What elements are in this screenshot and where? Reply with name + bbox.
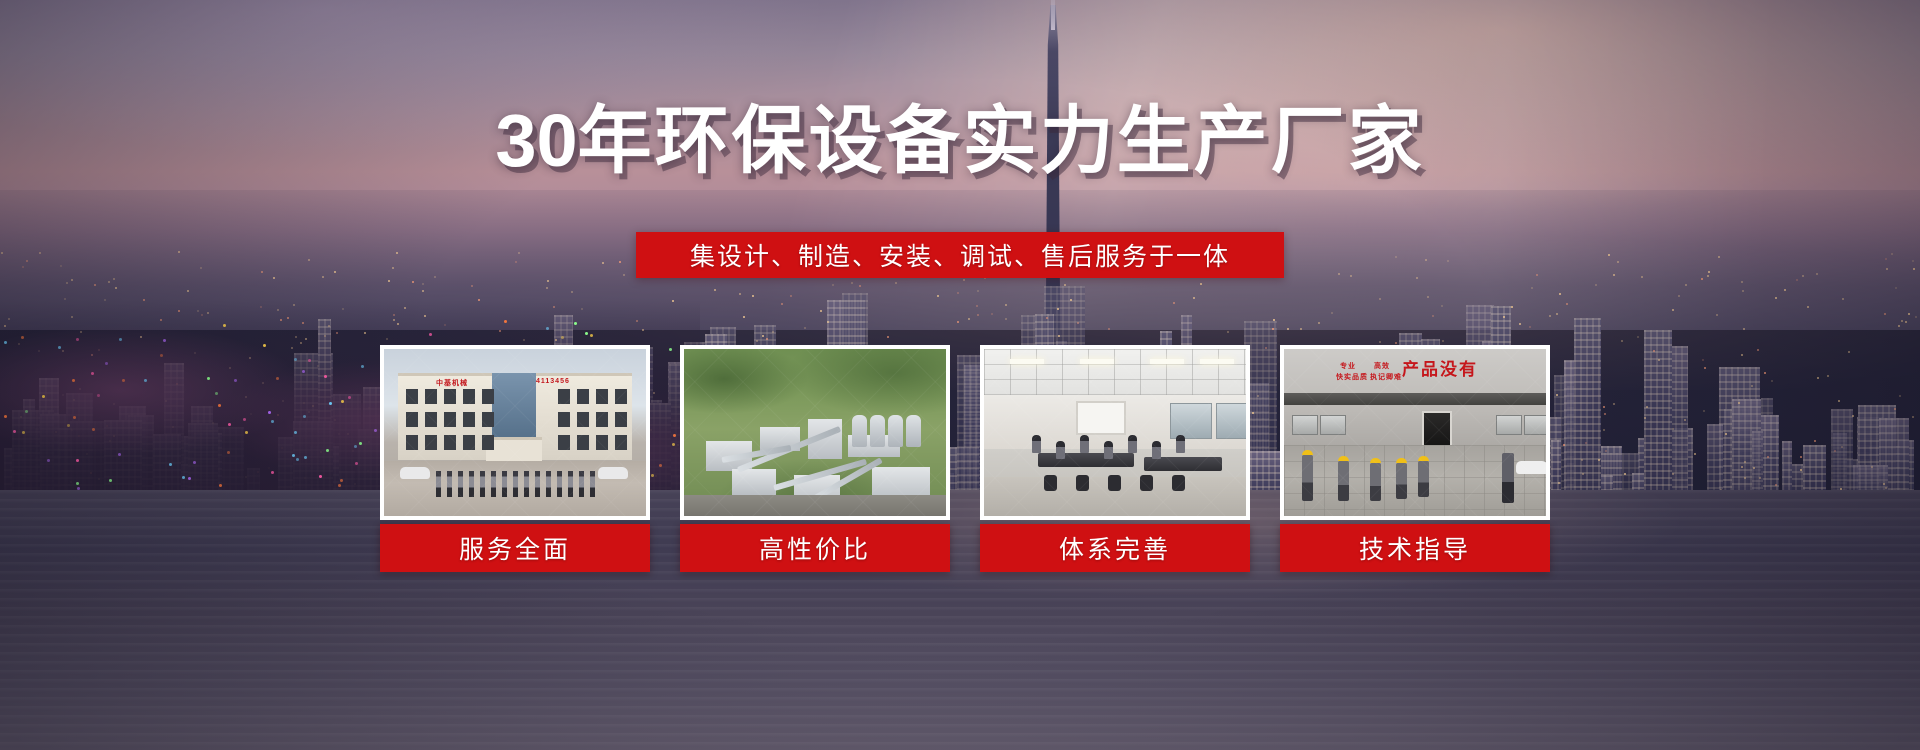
factory-sign-text: 产品没有 (1402, 355, 1478, 380)
supervisor (1502, 453, 1514, 503)
factory-window (1524, 415, 1550, 435)
office-worker (1152, 441, 1161, 459)
factory-worker (1418, 461, 1429, 497)
building-phone-text: 4113456 (536, 378, 570, 385)
factory-sign-small-3: 高效 (1374, 363, 1390, 371)
feature-card-caption: 高性价比 (680, 524, 950, 572)
feature-card-caption-text: 体系完善 (1059, 530, 1171, 566)
factory-worker (1396, 463, 1407, 499)
office-window (615, 435, 627, 450)
factory-window-strip (1284, 393, 1546, 405)
staff-member (579, 471, 584, 497)
staff-member (524, 471, 529, 497)
feature-card-list: 中基机械 4113456 服务全面 高性价比 (380, 345, 1550, 600)
staff-member (469, 471, 474, 497)
office-worker (1056, 441, 1065, 459)
parked-car (598, 467, 628, 479)
card-photo-industrial-plant (680, 345, 950, 520)
office-window (425, 435, 437, 450)
factory-worker (1302, 455, 1313, 501)
card-photo-factory-yard: 产品没有 专业 快实品质 高效 执记卿难 (1280, 345, 1550, 520)
parked-car (400, 467, 430, 479)
office-worker (1176, 435, 1185, 453)
office-worker (1104, 441, 1113, 459)
card-photo-office-building: 中基机械 4113456 (380, 345, 650, 520)
office-window (596, 435, 608, 450)
safety-helmet (1370, 458, 1381, 463)
ceiling-light (1080, 359, 1114, 364)
ceiling-light (1150, 359, 1184, 364)
factory-door (1422, 411, 1452, 449)
feature-card-caption-text: 技术指导 (1359, 530, 1471, 566)
card-photo-office-meeting-room (980, 345, 1250, 520)
ceiling-light (1010, 359, 1044, 364)
staff-member (546, 471, 551, 497)
office-window (1170, 403, 1212, 439)
feature-card-caption: 技术指导 (1280, 524, 1550, 572)
ceiling-light (1200, 359, 1234, 364)
office-window (558, 389, 570, 404)
feature-card-caption-text: 服务全面 (459, 530, 571, 566)
office-worker (1032, 435, 1041, 453)
staff-member (535, 471, 540, 497)
office-building-porch (486, 437, 542, 462)
hero-banner: 30年环保设备实力生产厂家 集设计、制造、安装、调试、售后服务于一体 中基机械 … (0, 0, 1920, 750)
office-window (558, 412, 570, 427)
hero-headline-text: 年环保设备实力生产厂家 (578, 99, 1425, 182)
office-chair (1076, 475, 1089, 491)
office-window (463, 389, 475, 404)
staff-member (480, 471, 485, 497)
staff-member (491, 471, 496, 497)
office-desk (1038, 453, 1134, 467)
office-window (577, 389, 589, 404)
plant-access-road (684, 495, 946, 517)
safety-helmet (1338, 456, 1349, 461)
staff-member (557, 471, 562, 497)
feature-card-caption-text: 高性价比 (759, 530, 871, 566)
office-ceiling (984, 349, 1246, 395)
office-window (482, 435, 494, 450)
staff-member (590, 471, 595, 497)
factory-sign-small-2: 快实品质 (1336, 374, 1368, 382)
plant-building (732, 469, 776, 495)
staff-member (568, 471, 573, 497)
office-whiteboard (1076, 401, 1126, 435)
office-window (425, 412, 437, 427)
feature-card[interactable]: 中基机械 4113456 服务全面 (380, 345, 650, 600)
feature-card[interactable]: 体系完善 (980, 345, 1250, 600)
office-window (577, 412, 589, 427)
factory-sign-small-1: 专业 (1340, 363, 1356, 371)
office-window (444, 435, 456, 450)
factory-window (1496, 415, 1522, 435)
office-window (444, 389, 456, 404)
office-chair (1172, 475, 1185, 491)
parked-car (1516, 461, 1548, 474)
office-worker (1080, 435, 1089, 453)
office-window (425, 389, 437, 404)
office-window (444, 412, 456, 427)
hero-headline-number: 30 (495, 99, 577, 182)
building-sign-text: 中基机械 (436, 378, 468, 388)
plant-silo (906, 415, 921, 447)
plant-silo (870, 415, 885, 447)
staff-member (436, 471, 441, 497)
factory-window (1292, 415, 1318, 435)
hero-headline: 30年环保设备实力生产厂家 (0, 104, 1920, 178)
office-window (463, 412, 475, 427)
office-worker (1128, 435, 1137, 453)
factory-worker (1338, 461, 1349, 501)
plant-structures (702, 401, 934, 509)
safety-helmet (1302, 450, 1313, 455)
office-window (596, 412, 608, 427)
office-window (406, 389, 418, 404)
hero-subtitle-text: 集设计、制造、安装、调试、售后服务于一体 (690, 237, 1230, 273)
office-window (406, 412, 418, 427)
factory-sign-small-4: 执记卿难 (1370, 374, 1402, 382)
feature-card-caption: 服务全面 (380, 524, 650, 572)
feature-card[interactable]: 产品没有 专业 快实品质 高效 执记卿难 技术指导 (1280, 345, 1550, 600)
plant-silo (888, 415, 903, 447)
safety-helmet (1418, 456, 1429, 461)
office-chair (1108, 475, 1121, 491)
office-window (406, 435, 418, 450)
office-window (482, 412, 494, 427)
office-window (482, 389, 494, 404)
staff-member (447, 471, 452, 497)
office-window (558, 435, 570, 450)
office-chair (1044, 475, 1057, 491)
hero-subtitle-banner: 集设计、制造、安装、调试、售后服务于一体 (636, 232, 1284, 278)
office-window (615, 412, 627, 427)
safety-helmet (1396, 458, 1407, 463)
office-desk (1144, 457, 1222, 471)
office-window (615, 389, 627, 404)
plant-silo (852, 415, 867, 447)
feature-card[interactable]: 高性价比 (680, 345, 950, 600)
staff-member (502, 471, 507, 497)
office-chair (1140, 475, 1153, 491)
staff-member (513, 471, 518, 497)
office-window (577, 435, 589, 450)
staff-member (458, 471, 463, 497)
feature-card-caption: 体系完善 (980, 524, 1250, 572)
office-window (1216, 403, 1250, 439)
factory-worker (1370, 463, 1381, 501)
office-window (596, 389, 608, 404)
office-window (463, 435, 475, 450)
factory-window (1320, 415, 1346, 435)
